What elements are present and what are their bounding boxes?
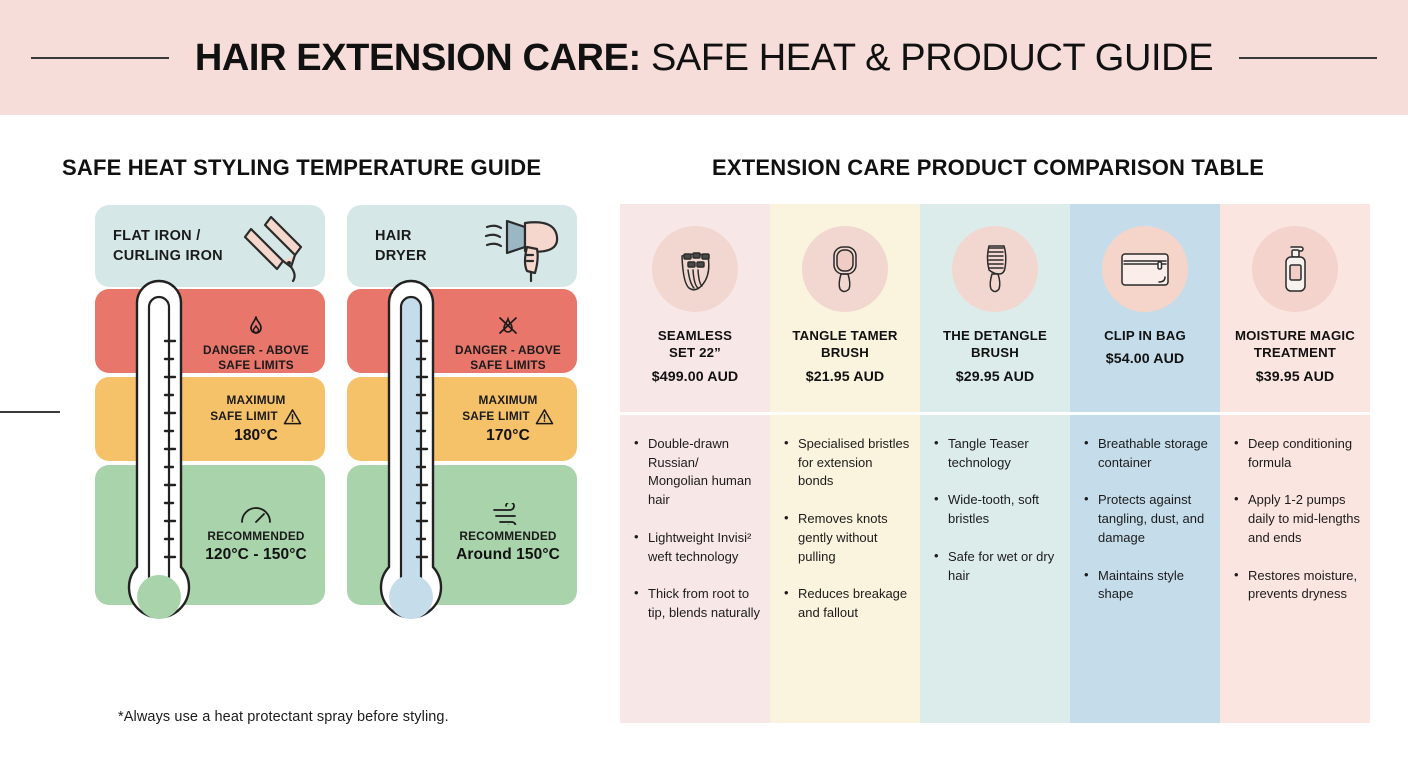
max-value: 170°C bbox=[443, 427, 573, 445]
product-column-seamless-set: SEAMLESS SET 22” $499.00 AUD Double-draw… bbox=[620, 204, 770, 723]
max-line2-row: SAFE LIMIT bbox=[443, 408, 573, 425]
left-accent-rule bbox=[0, 411, 60, 413]
product-price: $39.95 AUD bbox=[1256, 369, 1335, 385]
list-item: Breathable storage container bbox=[1084, 435, 1210, 472]
danger-line1: DANGER - ABOVE bbox=[443, 343, 573, 358]
product-feature-list: Tangle Teaser technology Wide-tooth, sof… bbox=[920, 415, 1070, 604]
product-name-line1: MOISTURE MAGIC bbox=[1235, 327, 1355, 344]
flat-iron-icon bbox=[221, 209, 321, 285]
list-item: Restores moisture, prevents dryness bbox=[1234, 567, 1360, 604]
header-rule-right bbox=[1239, 57, 1377, 59]
recommended-label: RECOMMENDED bbox=[443, 529, 573, 544]
product-column-clip-in-bag: CLIP IN BAG $54.00 AUD Breathable storag… bbox=[1070, 204, 1220, 723]
product-price: $21.95 AUD bbox=[806, 369, 885, 385]
product-feature-list: Specialised bristles for extension bonds… bbox=[770, 415, 920, 642]
product-section-title: EXTENSION CARE PRODUCT COMPARISON TABLE bbox=[712, 155, 1264, 181]
header-banner: HAIR EXTENSION CARE: SAFE HEAT & PRODUCT… bbox=[0, 0, 1408, 115]
flame-icon bbox=[244, 315, 268, 339]
product-comparison-table: SEAMLESS SET 22” $499.00 AUD Double-draw… bbox=[620, 204, 1370, 723]
thermometer-card-flat-iron: FLAT IRON / CURLING IRON DANGER bbox=[95, 205, 325, 670]
product-name: THE DETANGLE BRUSH bbox=[939, 327, 1051, 362]
product-icon-badge bbox=[952, 226, 1038, 312]
product-name-line2: BRUSH bbox=[943, 344, 1047, 361]
infographic-page: HAIR EXTENSION CARE: SAFE HEAT & PRODUCT… bbox=[0, 0, 1408, 768]
recommended-label: RECOMMENDED bbox=[191, 529, 321, 544]
page-title-light: SAFE HEAT & PRODUCT GUIDE bbox=[641, 37, 1213, 79]
product-name-line1: CLIP IN BAG bbox=[1104, 327, 1186, 344]
list-item: Removes knots gently without pulling bbox=[784, 510, 910, 566]
product-header: MOISTURE MAGIC TREATMENT $39.95 AUD bbox=[1220, 204, 1370, 412]
product-name-line1: TANGLE TAMER bbox=[792, 327, 897, 344]
heat-section-title: SAFE HEAT STYLING TEMPERATURE GUIDE bbox=[62, 155, 541, 181]
device-name-line2: CURLING IRON bbox=[113, 247, 223, 267]
list-item: Safe for wet or dry hair bbox=[934, 548, 1060, 585]
product-price: $54.00 AUD bbox=[1106, 351, 1185, 367]
device-name-line1: HAIR bbox=[375, 227, 485, 247]
max-line1: MAXIMUM bbox=[443, 393, 573, 408]
list-item: Tangle Teaser technology bbox=[934, 435, 1060, 472]
paddle-brush-icon bbox=[820, 242, 870, 296]
list-item: Reduces breakage and fallout bbox=[784, 585, 910, 622]
product-icon-badge bbox=[1102, 226, 1188, 312]
device-name-line2: DRYER bbox=[375, 247, 485, 267]
thermometer-card-hair-dryer: HAIR DRYER bbox=[347, 205, 577, 670]
danger-text: DANGER - ABOVE SAFE LIMITS bbox=[443, 315, 573, 374]
header-rule-left bbox=[31, 57, 169, 59]
recommended-text: RECOMMENDED 120°C - 150°C bbox=[191, 503, 321, 564]
hair-dryer-icon bbox=[473, 209, 573, 285]
device-name: FLAT IRON / CURLING IRON bbox=[113, 227, 223, 266]
product-column-detangle-brush: THE DETANGLE BRUSH $29.95 AUD Tangle Tea… bbox=[920, 204, 1070, 723]
pump-bottle-icon bbox=[1273, 241, 1317, 297]
product-icon-badge bbox=[1252, 226, 1338, 312]
thermometer-glass bbox=[113, 267, 205, 667]
product-name-line1: THE DETANGLE bbox=[943, 327, 1047, 344]
product-column-tangle-tamer-brush: TANGLE TAMER BRUSH $21.95 AUD Specialise… bbox=[770, 204, 920, 723]
danger-line2: SAFE LIMITS bbox=[191, 358, 321, 373]
product-name: CLIP IN BAG bbox=[1100, 327, 1190, 344]
list-item: Wide-tooth, soft bristles bbox=[934, 491, 1060, 528]
recommended-value: Around 150°C bbox=[443, 546, 573, 564]
heat-footnote: *Always use a heat protectant spray befo… bbox=[118, 709, 449, 725]
list-item: Maintains style shape bbox=[1084, 567, 1210, 604]
wide-tooth-comb-icon bbox=[972, 242, 1018, 296]
storage-bag-icon bbox=[1116, 246, 1174, 292]
max-limit-text: MAXIMUM SAFE LIMIT 180°C bbox=[191, 393, 321, 445]
list-item: Specialised bristles for extension bonds bbox=[784, 435, 910, 491]
product-name: SEAMLESS SET 22” bbox=[654, 327, 736, 362]
product-icon-badge bbox=[802, 226, 888, 312]
danger-line2: SAFE LIMITS bbox=[443, 358, 573, 373]
recommended-text: RECOMMENDED Around 150°C bbox=[443, 503, 573, 564]
list-item: Lightweight Invisi² weft technology bbox=[634, 529, 760, 566]
product-header: CLIP IN BAG $54.00 AUD bbox=[1070, 204, 1220, 412]
page-title: HAIR EXTENSION CARE: SAFE HEAT & PRODUCT… bbox=[195, 39, 1213, 77]
product-feature-list: Double-drawn Russian/ Mongolian human ha… bbox=[620, 415, 770, 642]
recommended-value: 120°C - 150°C bbox=[191, 546, 321, 564]
product-header: SEAMLESS SET 22” $499.00 AUD bbox=[620, 204, 770, 412]
warning-triangle-icon bbox=[283, 408, 302, 425]
product-price: $499.00 AUD bbox=[652, 369, 739, 385]
product-icon-badge bbox=[652, 226, 738, 312]
product-price: $29.95 AUD bbox=[956, 369, 1035, 385]
product-feature-list: Breathable storage container Protects ag… bbox=[1070, 415, 1220, 623]
warning-triangle-icon bbox=[535, 408, 554, 425]
hair-weft-icon bbox=[668, 242, 722, 296]
max-line2-row: SAFE LIMIT bbox=[191, 408, 321, 425]
product-name: MOISTURE MAGIC TREATMENT bbox=[1231, 327, 1359, 362]
product-name-line1: SEAMLESS bbox=[658, 327, 732, 344]
danger-text: DANGER - ABOVE SAFE LIMITS bbox=[191, 315, 321, 374]
danger-line1: DANGER - ABOVE bbox=[191, 343, 321, 358]
wind-icon bbox=[490, 503, 526, 525]
max-line2: SAFE LIMIT bbox=[462, 409, 530, 424]
no-heat-icon bbox=[495, 315, 521, 339]
max-line2: SAFE LIMIT bbox=[210, 409, 278, 424]
thermometer-glass bbox=[365, 267, 457, 667]
list-item: Thick from root to tip, blends naturally bbox=[634, 585, 760, 622]
page-title-bold: HAIR EXTENSION CARE: bbox=[195, 37, 641, 79]
product-column-moisture-magic: MOISTURE MAGIC TREATMENT $39.95 AUD Deep… bbox=[1220, 204, 1370, 723]
device-name: HAIR DRYER bbox=[375, 227, 485, 266]
max-line1: MAXIMUM bbox=[191, 393, 321, 408]
product-header: THE DETANGLE BRUSH $29.95 AUD bbox=[920, 204, 1070, 412]
list-item: Protects against tangling, dust, and dam… bbox=[1084, 491, 1210, 547]
product-name-line2: BRUSH bbox=[792, 344, 897, 361]
list-item: Deep conditioning formula bbox=[1234, 435, 1360, 472]
product-name: TANGLE TAMER BRUSH bbox=[788, 327, 901, 362]
product-header: TANGLE TAMER BRUSH $21.95 AUD bbox=[770, 204, 920, 412]
gauge-icon bbox=[239, 503, 273, 525]
max-value: 180°C bbox=[191, 427, 321, 445]
product-name-line2: TREATMENT bbox=[1235, 344, 1355, 361]
device-name-line1: FLAT IRON / bbox=[113, 227, 223, 247]
list-item: Apply 1-2 pumps daily to mid-lengths and… bbox=[1234, 491, 1360, 547]
max-limit-text: MAXIMUM SAFE LIMIT 170°C bbox=[443, 393, 573, 445]
product-feature-list: Deep conditioning formula Apply 1-2 pump… bbox=[1220, 415, 1370, 623]
product-name-line2: SET 22” bbox=[658, 344, 732, 361]
list-item: Double-drawn Russian/ Mongolian human ha… bbox=[634, 435, 760, 510]
